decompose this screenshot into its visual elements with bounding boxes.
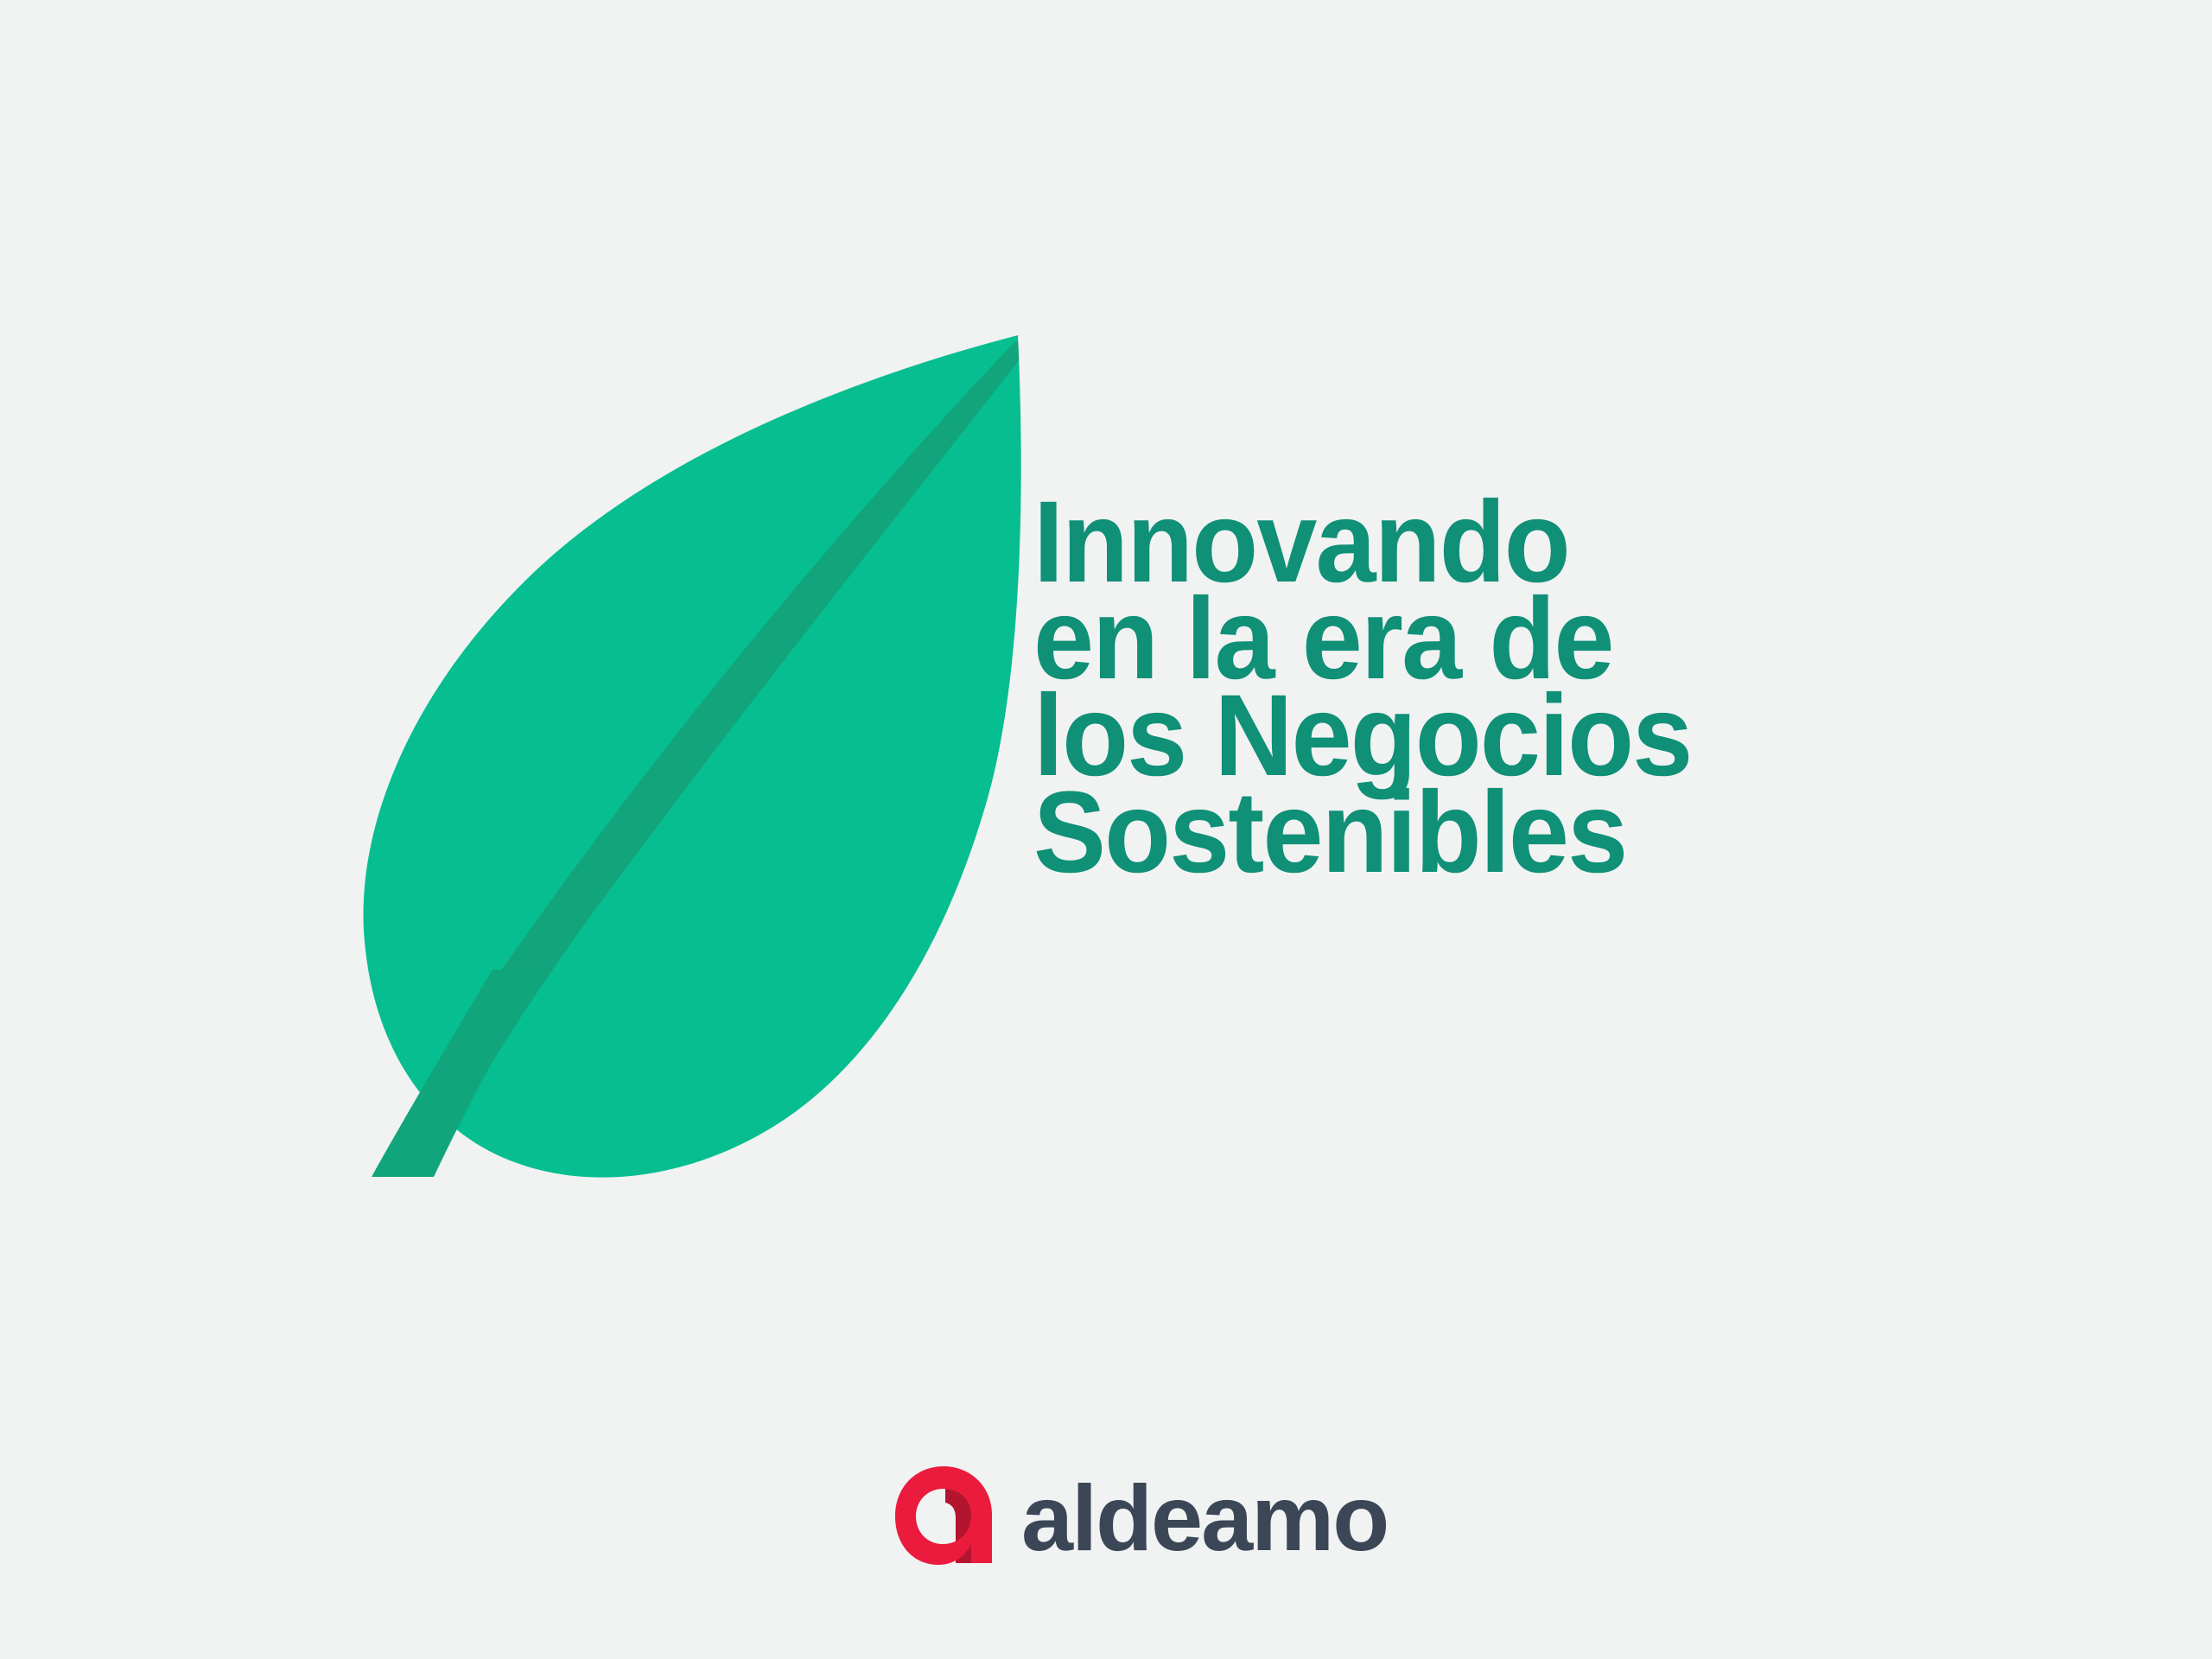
leaf-illustration (233, 302, 1054, 1184)
aldeamo-wordmark: aldeamo (1021, 1471, 1388, 1565)
headline-line-4: Sostenibles (1033, 785, 1992, 881)
aldeamo-logo: aldeamo (892, 1459, 1388, 1571)
logo-mark-ring (895, 1466, 992, 1565)
poster-canvas: Innovando en la era de los Negocios Sost… (0, 0, 2212, 1659)
page-title: Innovando en la era de los Negocios Sost… (1033, 494, 2053, 881)
aldeamo-a-mark-icon (892, 1461, 999, 1568)
